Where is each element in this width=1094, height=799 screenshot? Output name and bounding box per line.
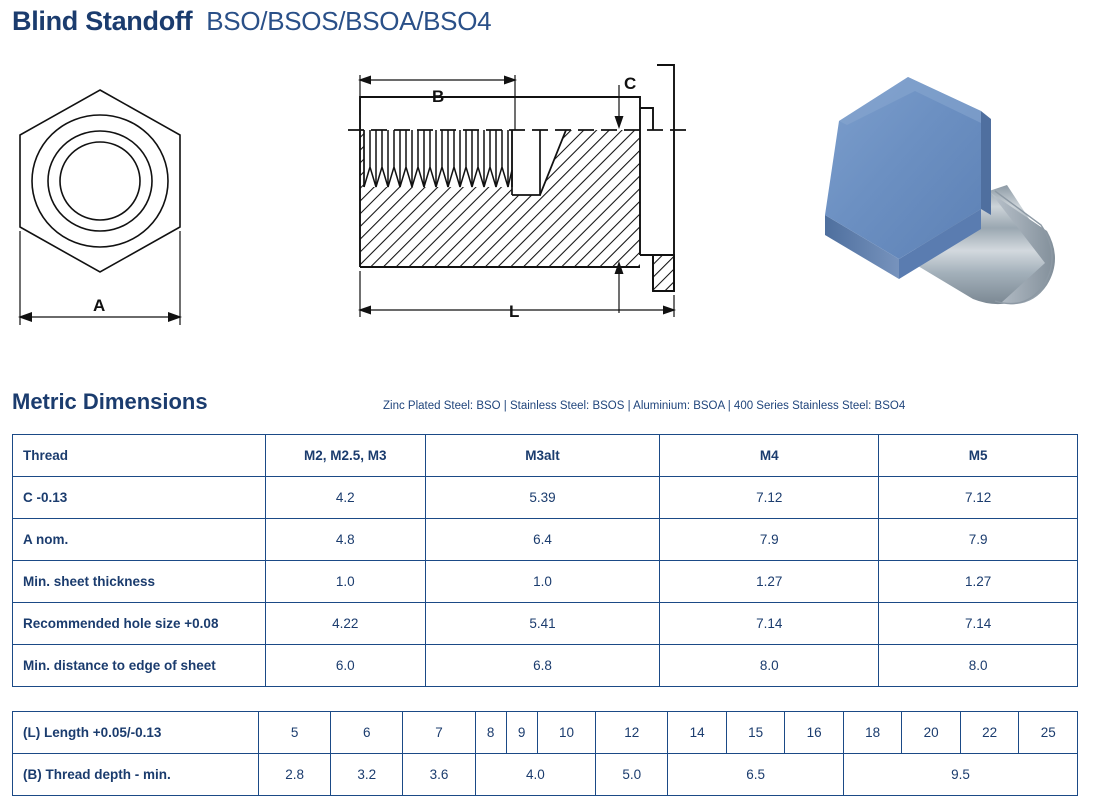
column-header-M4: M4 [660,435,879,477]
thread-depth-cell: 9.5 [843,754,1077,796]
materials-note: Zinc Plated Steel: BSO | Stainless Steel… [383,400,905,412]
dimension-label-a: A [93,296,105,316]
row-label: A nom. [13,519,266,561]
hexagon-front-view-drawing [0,55,230,345]
table-cell: 1.0 [265,561,425,603]
table-cell: 6.8 [425,645,660,687]
table-cell: 7.14 [879,603,1078,645]
table-row: A nom.4.86.47.97.9 [13,519,1078,561]
thread-depth-cell: 3.6 [403,754,475,796]
length-cell: 8 [475,712,506,754]
technical-drawings: A [0,55,1094,355]
table-cell: 4.8 [265,519,425,561]
row-label: Recommended hole size +0.08 [13,603,266,645]
row-label: Min. distance to edge of sheet [13,645,266,687]
table-row: C -0.134.25.397.127.12 [13,477,1078,519]
table-cell: 1.27 [660,561,879,603]
table-row: Recommended hole size +0.084.225.417.147… [13,603,1078,645]
table-cell: 5.41 [425,603,660,645]
dimension-label-b: B [432,87,444,107]
thread-depth-cell: 4.0 [475,754,596,796]
table-cell: 6.0 [265,645,425,687]
table-row: Min. sheet thickness1.01.01.271.27 [13,561,1078,603]
table-cell: 7.9 [879,519,1078,561]
standoff-3d-render [795,63,1085,343]
length-cell: 20 [902,712,961,754]
table-header-row: ThreadM2, M2.5, M3M3altM4M5 [13,435,1078,477]
row-label: C -0.13 [13,477,266,519]
title-main: Blind Standoff [12,6,192,37]
row-label-length: (L) Length +0.05/-0.13 [13,712,259,754]
length-cell: 22 [960,712,1019,754]
length-cell: 10 [537,712,596,754]
table-cell: 7.12 [660,477,879,519]
length-thread-depth-table: (L) Length +0.05/-0.13567891012141516182… [12,711,1078,796]
table-cell: 1.27 [879,561,1078,603]
length-cell: 6 [331,712,403,754]
table-cell: 7.14 [660,603,879,645]
column-header-thread: Thread [13,435,266,477]
section-heading: Metric Dimensions [12,389,208,415]
thread-depth-cell: 3.2 [331,754,403,796]
length-row: (L) Length +0.05/-0.13567891012141516182… [13,712,1078,754]
length-cell: 7 [403,712,475,754]
cross-section-drawing [340,55,700,345]
column-header-M5: M5 [879,435,1078,477]
dimension-label-c: C [624,74,636,94]
length-cell: 5 [259,712,331,754]
table-row: Min. distance to edge of sheet6.06.88.08… [13,645,1078,687]
thread-depth-row: (B) Thread depth - min.2.83.23.64.05.06.… [13,754,1078,796]
thread-depth-cell: 5.0 [596,754,668,796]
page-title: Blind Standoff BSO/BSOS/BSOA/BSO4 [12,6,491,37]
metric-dimensions-table: ThreadM2, M2.5, M3M3altM4M5C -0.134.25.3… [12,434,1078,687]
thread-depth-cell: 6.5 [668,754,844,796]
title-part-codes: BSO/BSOS/BSOA/BSO4 [206,6,491,37]
column-header-M3alt: M3alt [425,435,660,477]
thread-depth-cell: 2.8 [259,754,331,796]
table-cell: 4.22 [265,603,425,645]
table-cell: 4.2 [265,477,425,519]
table-cell: 5.39 [425,477,660,519]
length-cell: 15 [726,712,785,754]
dimension-label-l: L [509,302,519,322]
length-cell: 25 [1019,712,1078,754]
row-label-thread-depth: (B) Thread depth - min. [13,754,259,796]
table-cell: 1.0 [425,561,660,603]
length-cell: 9 [506,712,537,754]
table-cell: 6.4 [425,519,660,561]
length-cell: 12 [596,712,668,754]
table-cell: 8.0 [879,645,1078,687]
table-cell: 7.12 [879,477,1078,519]
column-header-M2, M2.5, M3: M2, M2.5, M3 [265,435,425,477]
length-cell: 16 [785,712,844,754]
length-cell: 18 [843,712,902,754]
length-cell: 14 [668,712,727,754]
datasheet-page: Blind Standoff BSO/BSOS/BSOA/BSO4 A [0,0,1094,799]
table-cell: 8.0 [660,645,879,687]
table-cell: 7.9 [660,519,879,561]
row-label: Min. sheet thickness [13,561,266,603]
